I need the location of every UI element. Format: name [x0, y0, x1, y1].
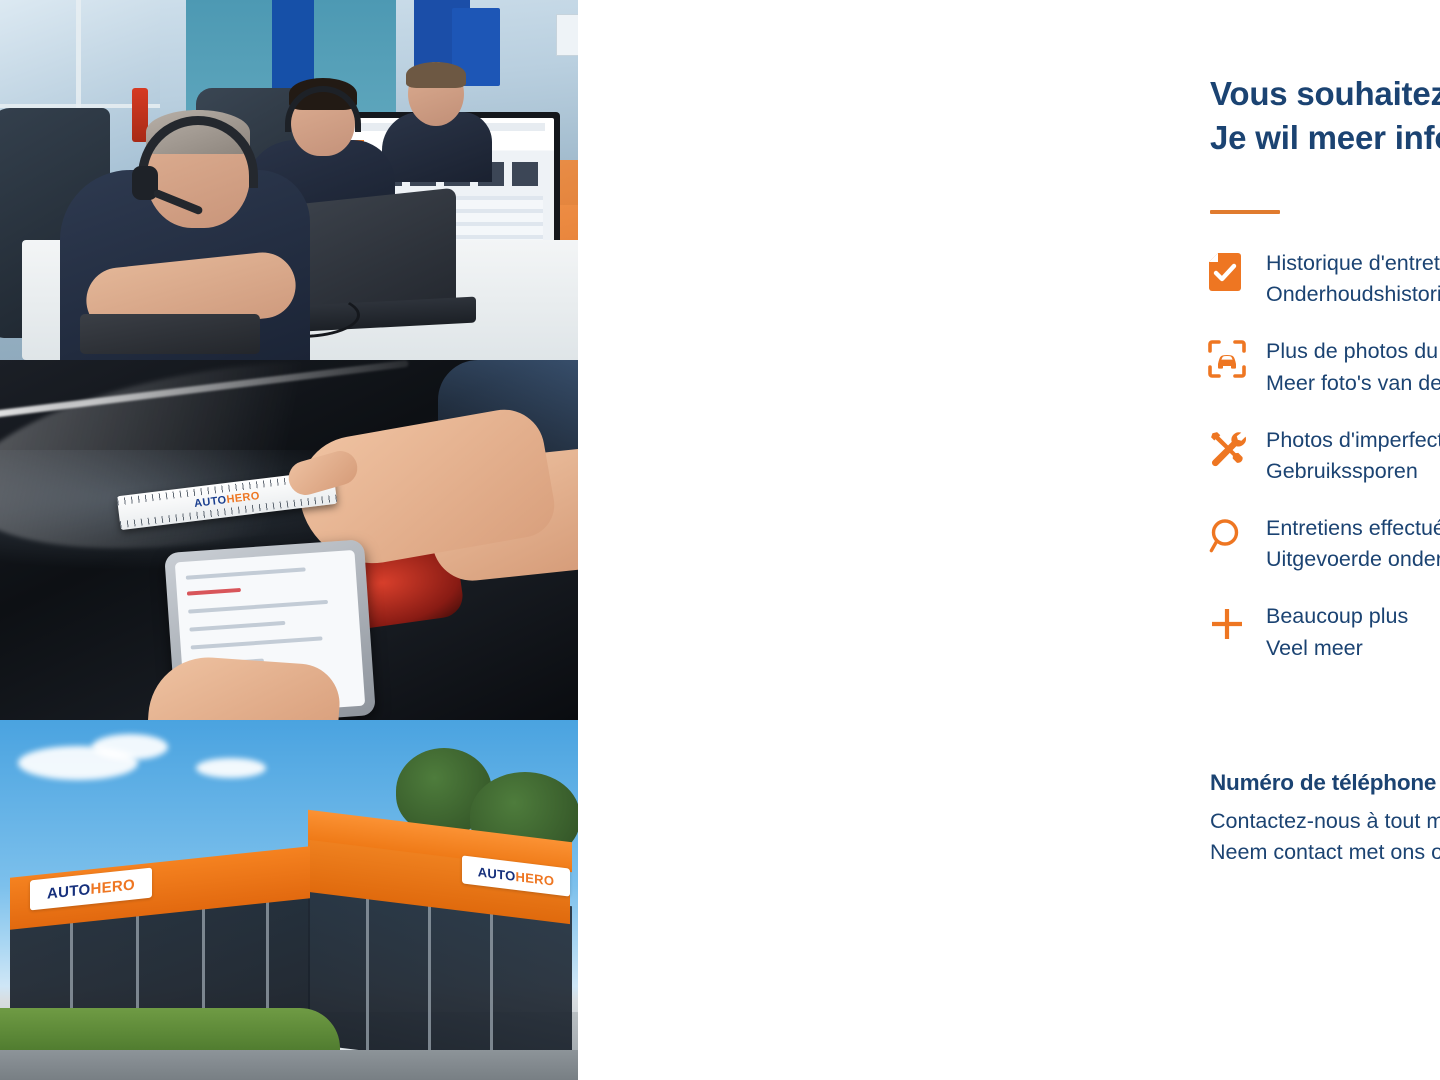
- list-item-text: Beaucoup plus Veel meer: [1266, 601, 1408, 663]
- magnifier-icon: [1208, 513, 1266, 555]
- contact-block: Numéro de téléphone / Telefoonnummer: +3…: [1210, 770, 1440, 867]
- phone-number[interactable]: Numéro de téléphone / Telefoonnummer: +3…: [1210, 770, 1440, 796]
- sign-brand-auto-2: AUTO: [478, 864, 516, 884]
- headline-line-nl: Je wil meer informatie over:: [1210, 116, 1440, 160]
- list-item: Historique d'entretien Onderhoudshistori…: [1208, 248, 1440, 310]
- list-item: Entretiens effectués Uitgevoerde onderho…: [1208, 513, 1440, 575]
- headline-divider: [1210, 210, 1280, 214]
- dealership-exterior-photo: AUTOHERO AUTOHERO: [0, 720, 578, 1080]
- feature-label-nl: Onderhoudshistorie: [1266, 279, 1440, 310]
- list-item-text: Photos d'imperfections Gebruikssporen: [1266, 425, 1440, 487]
- feature-label-fr: Entretiens effectués: [1266, 516, 1440, 540]
- list-item: Plus de photos du véhicule Meer foto's v…: [1208, 336, 1440, 398]
- feature-label-nl: Meer foto's van de auto: [1266, 368, 1440, 399]
- document-check-icon: [1208, 248, 1266, 292]
- feature-label-nl: Gebruikssporen: [1266, 456, 1440, 487]
- vehicle-inspection-photo: AUTOHERO: [0, 360, 578, 720]
- feature-label-fr: Beaucoup plus: [1266, 604, 1408, 628]
- call-center-agents-photo: [0, 0, 578, 360]
- feature-label-fr: Photos d'imperfections: [1266, 428, 1440, 452]
- page-title: Vous souhaitez plus d'informations sur /…: [1210, 72, 1440, 159]
- contact-line-fr: Contactez-nous à tout moment pour plus d…: [1210, 806, 1440, 837]
- sign-brand-auto: AUTO: [47, 881, 90, 903]
- plus-icon: [1208, 601, 1266, 643]
- feature-label-nl: Veel meer: [1266, 633, 1408, 664]
- content-panel: Vous souhaitez plus d'informations sur /…: [578, 0, 1440, 1080]
- list-item: Beaucoup plus Veel meer: [1208, 601, 1440, 663]
- sign-brand-hero: HERO: [90, 876, 135, 898]
- headline-line-fr: Vous souhaitez plus d'informations sur /: [1210, 72, 1440, 116]
- list-item-text: Historique d'entretien Onderhoudshistori…: [1266, 248, 1440, 310]
- car-frame-icon: [1208, 336, 1266, 378]
- feature-label-fr: Plus de photos du véhicule: [1266, 339, 1440, 363]
- list-item: Photos d'imperfections Gebruikssporen: [1208, 425, 1440, 487]
- marketing-flyer: AUTOHERO: [0, 0, 1440, 1080]
- tools-icon: [1208, 425, 1266, 467]
- list-item-text: Entretiens effectués Uitgevoerde onderho…: [1266, 513, 1440, 575]
- feature-label-nl: Uitgevoerde onderhoudswerkzaamheden: [1266, 544, 1440, 575]
- photo-column: AUTOHERO: [0, 0, 578, 1080]
- list-item-text: Plus de photos du véhicule Meer foto's v…: [1266, 336, 1440, 398]
- feature-label-fr: Historique d'entretien: [1266, 251, 1440, 275]
- feature-list: Historique d'entretien Onderhoudshistori…: [1208, 248, 1440, 690]
- contact-line-nl: Neem contact met ons op voor meer inform…: [1210, 837, 1440, 868]
- sign-brand-hero-2: HERO: [516, 868, 555, 888]
